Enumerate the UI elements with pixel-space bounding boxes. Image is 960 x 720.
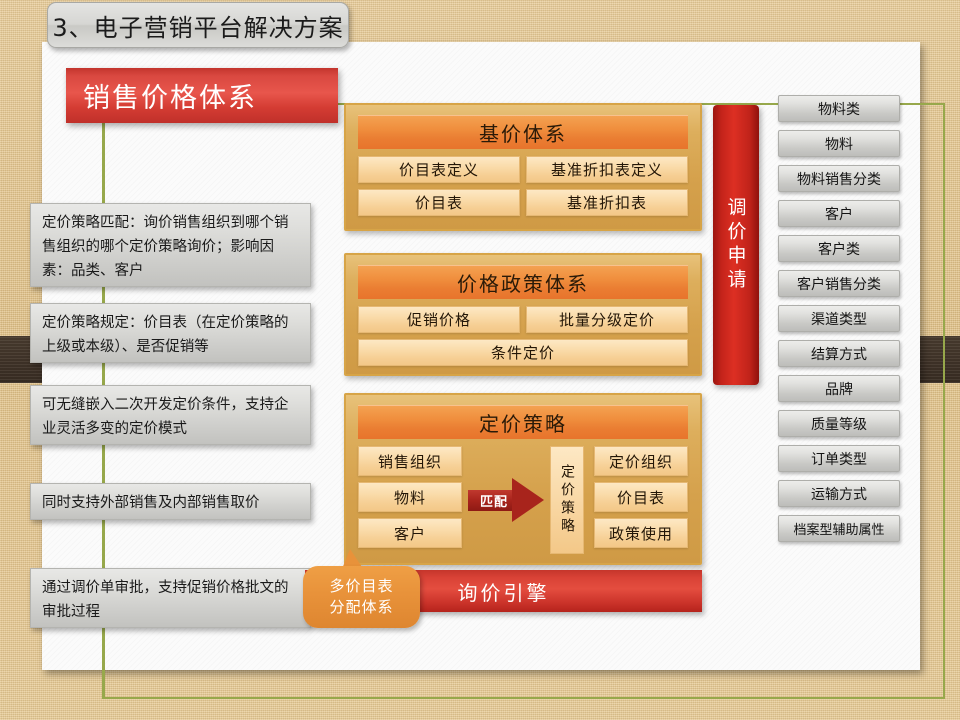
cell-item[interactable]: 价目表 xyxy=(594,482,688,512)
list-item[interactable]: 物料销售分类 xyxy=(778,165,900,192)
cell-item[interactable]: 物料 xyxy=(358,482,462,512)
callout-line-2: 分配体系 xyxy=(329,597,393,618)
cell-item[interactable]: 销售组织 xyxy=(358,446,462,476)
callout-text: 多价目表 分配体系 xyxy=(329,576,393,618)
section-banner: 销售价格体系 xyxy=(66,68,338,123)
cell-item[interactable]: 批量分级定价 xyxy=(526,306,688,333)
list-item[interactable]: 客户销售分类 xyxy=(778,270,900,297)
list-item[interactable]: 品牌 xyxy=(778,375,900,402)
cell-item[interactable]: 促销价格 xyxy=(358,306,520,333)
price-adjustment-request-bar[interactable]: 调价申请 xyxy=(713,105,759,385)
note-item: 定价策略规定：价目表（在定价策略的上级或本级）、是否促销等 xyxy=(30,303,311,363)
list-item[interactable]: 档案型辅助属性 xyxy=(778,515,900,542)
card-title: 基价体系 xyxy=(358,115,688,149)
note-item: 通过调价单审批，支持促销价格批文的审批过程 xyxy=(30,568,311,628)
card-title: 价格政策体系 xyxy=(358,265,688,299)
cell-item[interactable]: 条件定价 xyxy=(358,339,688,366)
list-item[interactable]: 客户类 xyxy=(778,235,900,262)
list-item[interactable]: 物料类 xyxy=(778,95,900,122)
list-item[interactable]: 物料 xyxy=(778,130,900,157)
card-title: 定价策略 xyxy=(358,405,688,439)
card-row: 价目表 基准折扣表 xyxy=(358,189,688,216)
cell-item[interactable]: 政策使用 xyxy=(594,518,688,548)
cell-item[interactable]: 价目表 xyxy=(358,189,520,216)
list-item[interactable]: 客户 xyxy=(778,200,900,227)
note-item: 同时支持外部销售及内部销售取价 xyxy=(30,483,311,520)
cell-item[interactable]: 基准折扣表定义 xyxy=(526,156,688,183)
cell-item[interactable]: 价目表定义 xyxy=(358,156,520,183)
strategy-body: 销售组织 物料 客户 匹配 定价策略 定价组织 价目表 政策使用 xyxy=(358,446,688,554)
note-item: 定价策略匹配：询价销售组织到哪个销售组织的哪个定价策略询价；影响因素：品类、客户 xyxy=(30,203,311,287)
list-item[interactable]: 质量等级 xyxy=(778,410,900,437)
strategy-input-group: 销售组织 物料 客户 xyxy=(358,446,462,548)
list-item[interactable]: 渠道类型 xyxy=(778,305,900,332)
cell-item[interactable]: 客户 xyxy=(358,518,462,548)
callout-line-1: 多价目表 xyxy=(329,576,393,597)
card-price-policy-system: 价格政策体系 促销价格 批量分级定价 条件定价 xyxy=(344,253,702,376)
list-item[interactable]: 运输方式 xyxy=(778,480,900,507)
cell-item[interactable]: 基准折扣表 xyxy=(526,189,688,216)
card-base-price-system: 基价体系 价目表定义 基准折扣表定义 价目表 基准折扣表 xyxy=(344,103,702,231)
note-item: 可无缝嵌入二次开发定价条件，支持企业灵活多变的定价模式 xyxy=(30,385,311,445)
page-title: 3、电子营销平台解决方案 xyxy=(47,2,349,48)
strategy-output-group: 定价组织 价目表 政策使用 xyxy=(594,446,688,548)
card-row: 促销价格 批量分级定价 xyxy=(358,306,688,333)
arrow-label: 匹配 xyxy=(472,491,516,510)
arrow-right-icon: 匹配 xyxy=(468,478,544,522)
list-item[interactable]: 订单类型 xyxy=(778,445,900,472)
price-adjustment-request-label: 调价申请 xyxy=(723,197,750,293)
cell-item[interactable]: 定价组织 xyxy=(594,446,688,476)
arrow-head xyxy=(512,478,544,522)
section-banner-text: 销售价格体系 xyxy=(66,76,257,115)
card-row: 价目表定义 基准折扣表定义 xyxy=(358,156,688,183)
list-item[interactable]: 结算方式 xyxy=(778,340,900,367)
inquiry-engine-label: 询价引擎 xyxy=(458,577,550,606)
card-pricing-strategy: 定价策略 销售组织 物料 客户 匹配 定价策略 定价组织 价目表 政策使用 xyxy=(344,393,702,565)
page-title-text: 3、电子营销平台解决方案 xyxy=(52,8,343,43)
callout-bubble: 多价目表 分配体系 xyxy=(303,566,420,628)
strategy-vertical-label: 定价策略 xyxy=(550,446,584,554)
attribute-list: 物料类 物料 物料销售分类 客户 客户类 客户销售分类 渠道类型 结算方式 品牌… xyxy=(778,95,900,550)
match-arrow-container: 匹配 xyxy=(462,446,550,554)
